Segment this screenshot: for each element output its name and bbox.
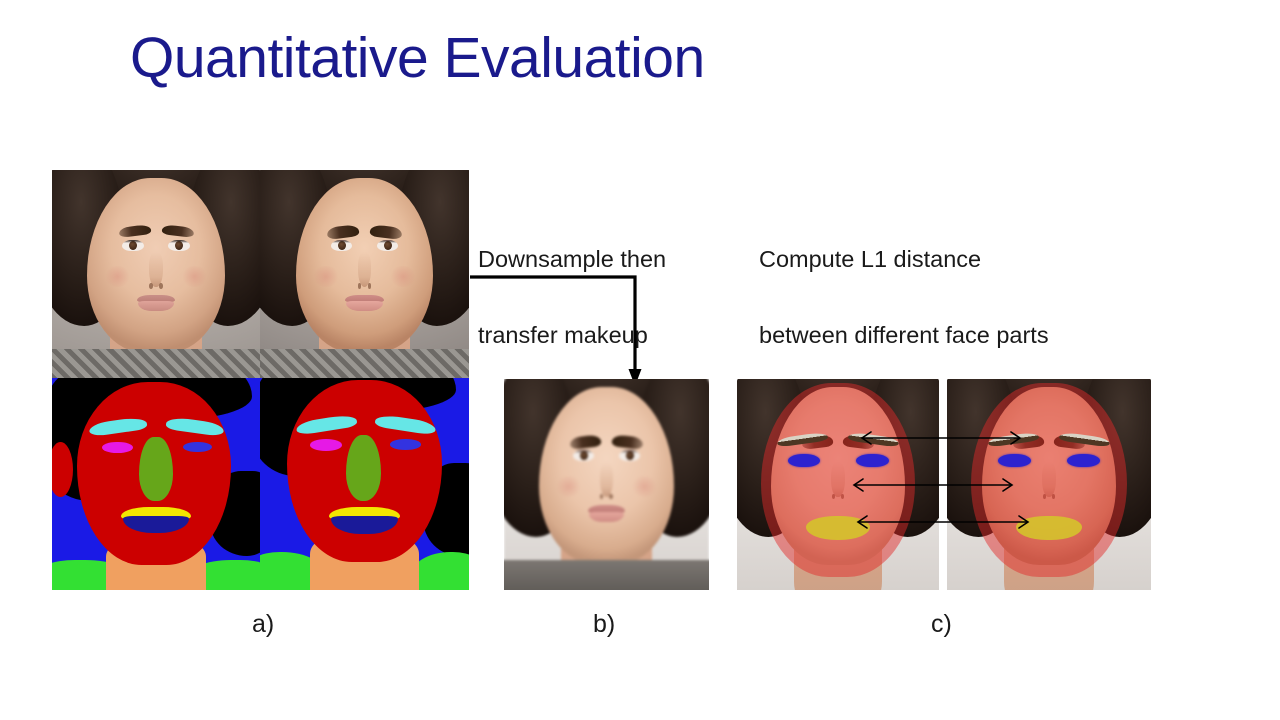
panel-b-downsampled-result [504,379,709,590]
eyebrow-right [161,224,194,238]
cheek-left [104,266,131,287]
annotation-l1-distance: Compute L1 distance between different fa… [759,202,1049,392]
eye-left [122,240,143,251]
clothing-region [52,349,260,378]
reference-face-photo [260,170,469,378]
nostril-left [149,283,153,289]
cheek-right [389,266,417,287]
clothing-region [260,349,469,378]
slide-canvas: Quantitative Evaluation Downsample then … [0,0,1280,720]
cheek-right [631,476,658,497]
nostril-left [358,283,362,289]
clothing-region [504,560,709,590]
source-face-photo [52,170,260,378]
eyebrow-right [611,434,643,449]
face-region [539,387,674,564]
lower-lip [346,301,382,311]
mask-eye-right [390,439,421,450]
lips-region [588,505,626,522]
eyelash-left [122,240,143,243]
nose-region [600,462,614,497]
eyebrow-left [569,434,601,449]
caption-panel-a: a) [252,610,274,639]
nose-region [358,252,372,287]
caption-panel-b: b) [593,610,615,639]
mask-eye-left [310,439,341,451]
lips-region [137,295,175,312]
cheek-left [555,476,582,497]
lips-region [345,295,384,312]
mask-nose [139,437,172,501]
reference-face-mask [260,378,469,590]
lower-lip [589,512,625,522]
lower-lip [138,301,174,311]
overlay-eye-right [1067,454,1100,467]
page-title: Quantitative Evaluation [130,26,705,92]
annotation-l1-line1: Compute L1 distance [759,240,1049,278]
caption-panel-c: c) [931,610,952,639]
eyebrow-left [118,224,151,238]
annotation-l1-line2: between different face parts [759,316,1049,354]
flow-arrow-downsample [462,268,652,390]
nostril-right [159,283,163,289]
eye-left [573,450,594,461]
overlay-eye-left [788,454,820,467]
nostril-right [609,494,613,500]
eyelash-right [168,240,189,243]
panel-a-inputs [52,170,469,590]
mask-nose [346,435,382,501]
face-region [87,178,224,353]
nose-region [149,252,163,287]
nostril-left [600,494,604,500]
mask-eye-right [183,442,212,453]
eyebrow-right [369,224,402,239]
cheek-left [312,266,340,287]
eye-right [377,240,398,251]
comparison-arrows [845,420,1065,540]
eyebrow-left [327,224,360,239]
eye-right [168,240,189,251]
source-face-mask [52,378,260,590]
face-region [296,178,434,353]
eye-left [331,240,352,251]
cheek-right [181,266,208,287]
eye-right [619,450,640,461]
nostril-right [368,283,372,289]
